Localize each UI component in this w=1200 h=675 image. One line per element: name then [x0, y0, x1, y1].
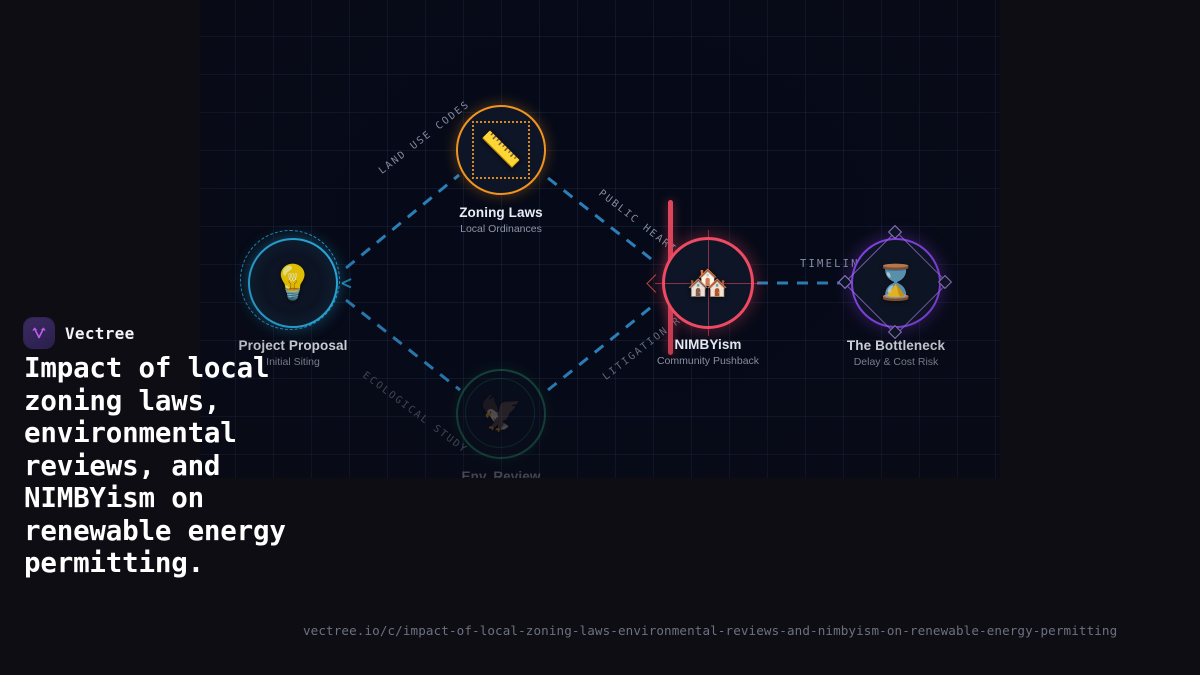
node-subtitle: Delay & Cost Risk [847, 356, 945, 368]
node-nimbyism[interactable]: 🏘️ NIMBYism Community Pushback [662, 237, 754, 329]
lightbulb-icon: 💡 [272, 266, 314, 300]
node-title: Zoning Laws [459, 205, 543, 220]
node-label-group: Zoning Laws Local Ordinances [459, 205, 543, 235]
node-ring: 🦅 [456, 369, 546, 459]
node-title: Env. Review [462, 469, 541, 478]
brand-lockup: Vectree [24, 318, 135, 348]
screenshot-root: LAND USE CODES ECOLOGICAL STUDY PUBLIC H… [0, 0, 1200, 675]
node-ring: 📏 [456, 105, 546, 195]
node-zoning-laws[interactable]: 📏 Zoning Laws Local Ordinances [456, 105, 546, 195]
node-subtitle: Community Pushback [657, 355, 759, 367]
node-the-bottleneck[interactable]: ⌛ The Bottleneck Delay & Cost Risk [851, 238, 941, 328]
houses-icon: 🏘️ [687, 266, 729, 300]
node-subtitle: Local Ordinances [459, 223, 543, 235]
node-ring: 🏘️ [662, 237, 754, 329]
node-ring: ⌛ [851, 238, 941, 328]
page-title: Impact of local zoning laws, environment… [24, 352, 324, 580]
logo-glyph [30, 324, 48, 342]
node-title: Project Proposal [239, 338, 348, 353]
node-env-review[interactable]: 🦅 Env. Review NEPA / CEQA [456, 369, 546, 459]
brand-name: Vectree [65, 324, 135, 343]
node-title: NIMBYism [657, 337, 759, 352]
node-label-group: The Bottleneck Delay & Cost Risk [847, 338, 945, 368]
node-label-group: NIMBYism Community Pushback [657, 337, 759, 367]
node-project-proposal[interactable]: 💡 Project Proposal Initial Siting [248, 238, 338, 328]
share-url: vectree.io/c/impact-of-local-zoning-laws… [303, 623, 1117, 638]
hourglass-icon: ⌛ [875, 266, 917, 300]
node-ring: 💡 [248, 238, 338, 328]
ruler-icon: 📏 [480, 133, 522, 167]
node-label-group: Env. Review NEPA / CEQA [462, 469, 541, 478]
node-title: The Bottleneck [847, 338, 945, 353]
edge-land-use-codes [346, 175, 459, 268]
vectree-v-logo-icon [24, 318, 54, 348]
eagle-icon: 🦅 [480, 397, 522, 431]
